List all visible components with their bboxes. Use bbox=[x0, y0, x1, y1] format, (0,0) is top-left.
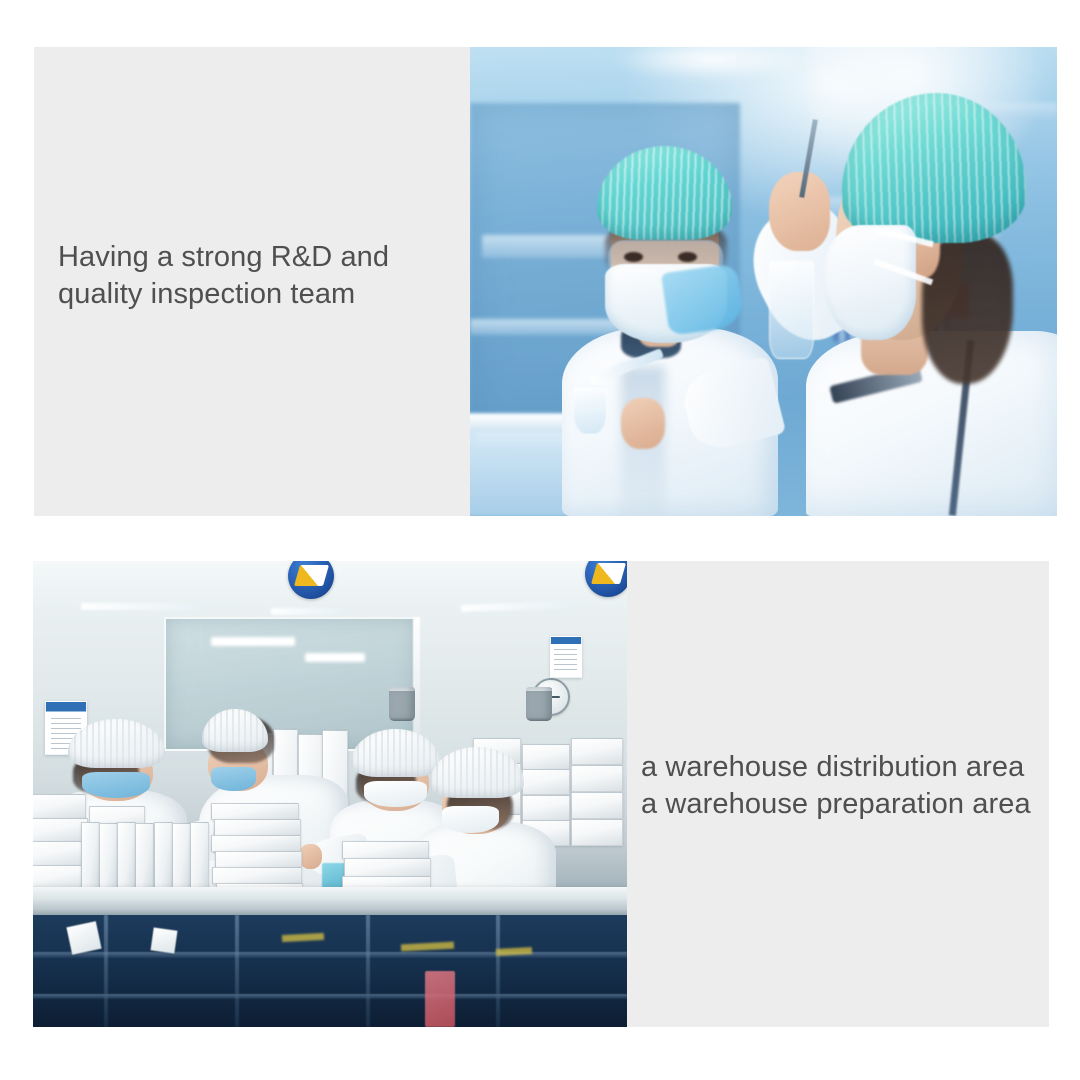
frame-leg bbox=[235, 915, 239, 1027]
lab-inspection-photo bbox=[470, 47, 1057, 516]
bottom-caption-text: a warehouse distribution area a warehous… bbox=[641, 749, 1051, 823]
blue-hairnet-icon bbox=[597, 146, 732, 241]
lab-flask-icon bbox=[573, 386, 607, 435]
carton-stack-center bbox=[211, 803, 330, 896]
top-caption-panel: Having a strong R&D and quality inspecti… bbox=[34, 47, 470, 516]
carton bbox=[211, 803, 299, 820]
carton bbox=[33, 794, 86, 819]
carton bbox=[344, 858, 432, 877]
white-hairnet-icon bbox=[430, 747, 524, 798]
carton bbox=[571, 738, 622, 765]
lab-beaker-icon bbox=[769, 260, 814, 359]
carton bbox=[571, 765, 622, 792]
notice-text-lines bbox=[554, 649, 577, 672]
gloved-hand bbox=[769, 172, 830, 251]
carton bbox=[214, 819, 302, 836]
stainless-container bbox=[526, 687, 552, 721]
warehouse-packing-photo bbox=[33, 561, 627, 1027]
warehouse-photo-canvas bbox=[33, 561, 627, 1027]
lab-photo-canvas bbox=[470, 47, 1057, 516]
frame-bar bbox=[33, 994, 627, 998]
section-bottom: a warehouse distribution area a warehous… bbox=[33, 561, 1049, 1027]
carton bbox=[571, 819, 622, 846]
ceiling-light-strip bbox=[271, 608, 342, 615]
white-face-mask-icon bbox=[442, 806, 499, 833]
carton-row-upright bbox=[81, 822, 212, 897]
pink-garment bbox=[425, 971, 455, 1027]
blue-face-mask-icon bbox=[211, 767, 256, 790]
lab-technician-profile bbox=[775, 75, 1057, 516]
carton bbox=[215, 851, 303, 868]
carton bbox=[342, 841, 430, 860]
carton bbox=[211, 835, 301, 852]
bottom-caption-panel: a warehouse distribution area a warehous… bbox=[627, 561, 1049, 1027]
carton bbox=[212, 867, 302, 884]
stainless-steel-table bbox=[33, 887, 627, 917]
face-mask-blue-fold bbox=[661, 263, 745, 336]
frame-leg bbox=[366, 915, 370, 1027]
table-underframe bbox=[33, 915, 627, 1027]
interior-light bbox=[305, 653, 365, 662]
interior-light bbox=[211, 637, 296, 646]
top-caption-text: Having a strong R&D and quality inspecti… bbox=[58, 239, 458, 313]
section-top: Having a strong R&D and quality inspecti… bbox=[34, 47, 1057, 516]
frame-leg bbox=[496, 915, 500, 1027]
stainless-container bbox=[389, 687, 415, 721]
frame-leg bbox=[104, 915, 108, 1027]
hand bbox=[621, 398, 664, 449]
page-root: Having a strong R&D and quality inspecti… bbox=[0, 0, 1080, 1080]
frame-bar bbox=[33, 952, 627, 957]
white-hairnet-icon bbox=[68, 719, 165, 767]
teal-hairnet-icon bbox=[842, 93, 1025, 243]
notice-board bbox=[550, 636, 582, 678]
carton bbox=[571, 792, 622, 819]
face-mask-icon bbox=[824, 225, 916, 340]
white-hairnet-icon bbox=[202, 709, 267, 752]
yellow-floor-marking bbox=[496, 947, 532, 956]
paper-scrap bbox=[150, 928, 177, 954]
ceiling-light-strip bbox=[81, 603, 200, 610]
